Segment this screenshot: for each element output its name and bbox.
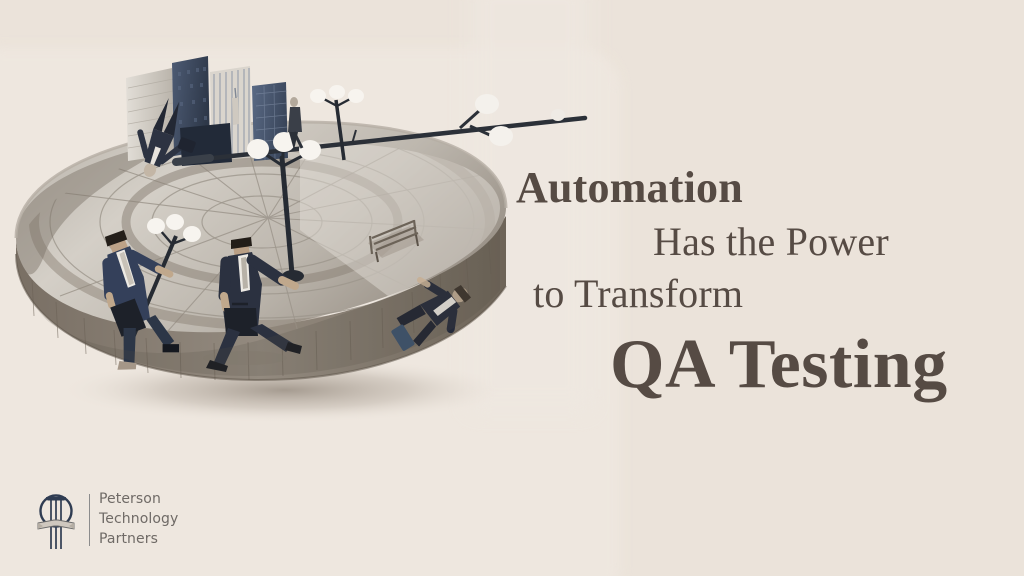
headline-line-2: Has the Power xyxy=(653,222,889,262)
headline-line-4: QA Testing xyxy=(610,330,948,400)
logo-word-3: Partners xyxy=(99,530,178,550)
logo-wordmark: Peterson Technology Partners xyxy=(99,490,178,550)
logo-divider xyxy=(89,494,90,546)
headline-line-3: to Transform xyxy=(533,274,743,314)
hero-artwork-illustration xyxy=(0,40,620,460)
brand-logo[interactable]: Peterson Technology Partners xyxy=(36,487,178,553)
banner-canvas: Automation Has the Power to Transform QA… xyxy=(0,0,1024,576)
hero-artwork xyxy=(0,40,620,460)
logo-word-2: Technology xyxy=(99,510,178,530)
peterson-monogram-icon xyxy=(36,487,80,553)
headline-line-1: Automation xyxy=(516,166,743,210)
logo-word-1: Peterson xyxy=(99,490,178,510)
tower-antenna xyxy=(232,97,239,125)
